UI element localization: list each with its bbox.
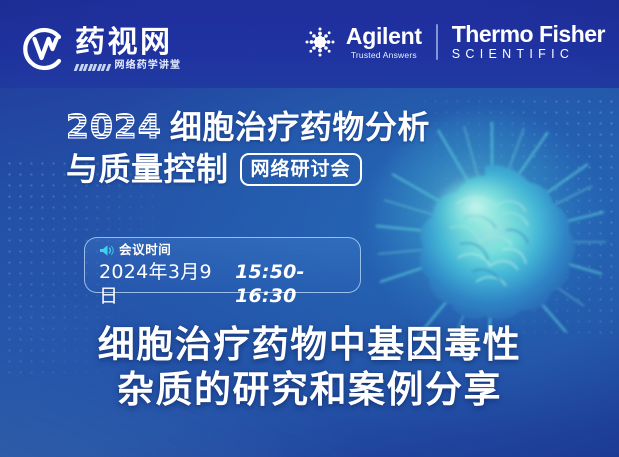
partner-logo-agilent[interactable]: Agilent Trusted Answers	[301, 23, 422, 61]
cv-circle-logo-icon	[16, 24, 66, 74]
meeting-time-label: 会议时间	[119, 243, 171, 257]
brand-name: 药视网	[75, 28, 181, 58]
title-text-line-1: 细胞治疗药物分析	[170, 108, 430, 146]
meeting-time: 15:50-16:30	[235, 260, 360, 308]
thermo-fisher-name: Thermo Fisher	[452, 22, 605, 46]
event-year: 2024	[66, 109, 162, 145]
topic-headline: 细胞治疗药物中基因毒性 杂质的研究和案例分享	[0, 322, 619, 412]
partner-logos: Agilent Trusted Answers Thermo Fisher SC…	[301, 22, 605, 61]
partner-logo-thermo-fisher[interactable]: Thermo Fisher SCIENTIFIC	[452, 22, 605, 61]
speaker-announce-icon	[99, 244, 114, 257]
brand-text: 药视网 网络药学讲堂	[75, 28, 181, 71]
event-title-block: 2024 细胞治疗药物分析 与质量控制 网络研讨会	[66, 108, 486, 188]
slash-decoration-icon	[75, 64, 110, 71]
partner-divider	[436, 24, 438, 60]
agilent-name: Agilent	[346, 24, 422, 48]
meeting-time-value-row: 2024年3月9日 15:50-16:30	[99, 260, 360, 308]
poster-header: 药视网 网络药学讲堂	[0, 0, 619, 88]
agilent-starburst-icon	[301, 23, 339, 61]
title-line-1: 2024 细胞治疗药物分析	[66, 108, 486, 146]
webinar-badge: 网络研讨会	[240, 153, 362, 186]
title-text-line-2: 与质量控制	[66, 150, 229, 188]
brand-tagline: 网络药学讲堂	[115, 61, 182, 71]
topic-headline-line-2: 杂质的研究和案例分享	[0, 367, 619, 412]
meeting-time-box: 会议时间 2024年3月9日 15:50-16:30	[84, 237, 361, 293]
meeting-date: 2024年3月9日	[99, 260, 225, 308]
title-line-2: 与质量控制 网络研讨会	[66, 150, 486, 188]
webinar-poster: 药视网 网络药学讲堂	[0, 0, 619, 457]
topic-headline-line-1: 细胞治疗药物中基因毒性	[0, 322, 619, 367]
brand-subtitle-row: 网络药学讲堂	[75, 61, 181, 71]
agilent-text: Agilent Trusted Answers	[346, 24, 422, 60]
agilent-tagline: Trusted Answers	[351, 50, 417, 60]
thermo-fisher-tagline: SCIENTIFIC	[452, 47, 574, 61]
meeting-time-label-row: 会议时间	[99, 243, 360, 257]
brand-logo[interactable]: 药视网 网络药学讲堂	[16, 24, 181, 74]
